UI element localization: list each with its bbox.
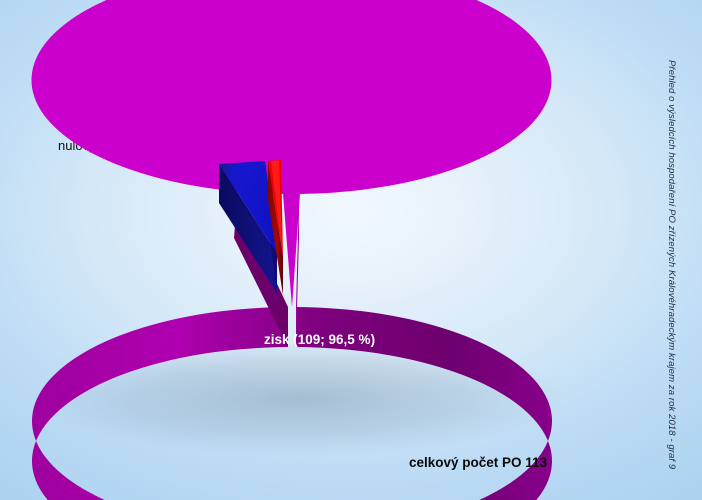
slice-zisk-top: [32, 0, 552, 307]
pie-chart-svg: [0, 0, 702, 500]
slice-label-zisk: zisk (109; 96,5 %): [264, 332, 375, 347]
side-caption: Přehled o výsledcích hospodaření PO zříz…: [664, 60, 680, 460]
side-caption-text: Přehled o výsledcích hospodaření PO zříz…: [666, 60, 677, 469]
pie-chart: [0, 0, 702, 500]
total-count-label: celkový počet PO 113: [409, 455, 547, 470]
slide-canvas: Přehled o výsledcích hospodaření příspěv…: [0, 0, 702, 500]
